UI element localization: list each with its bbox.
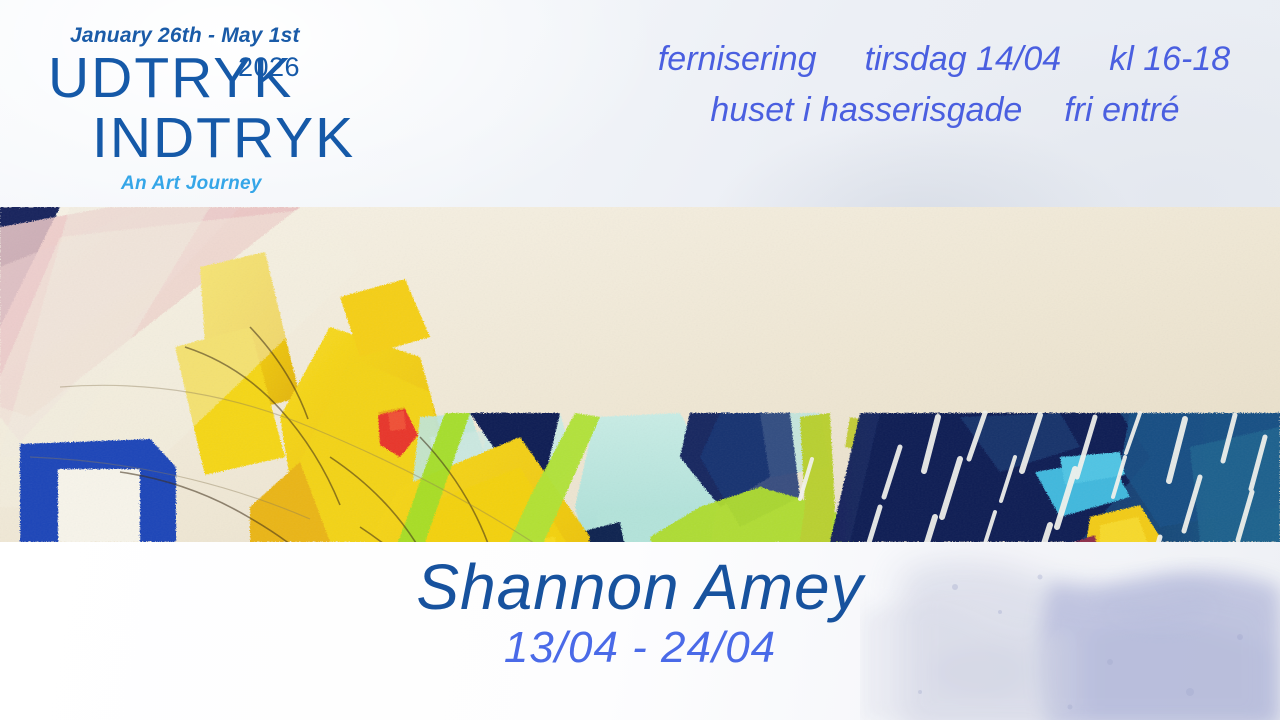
event-details-row-2: huset i hasserisgade fri entré [630,91,1260,130]
event-details: fernisering tirsdag 14/04 kl 16-18 huset… [600,40,1260,130]
header-band: January 26th - May 1st UDTRYK 2026 INDTR… [0,0,1280,207]
exhibition-branding: January 26th - May 1st UDTRYK 2026 INDTR… [0,0,360,207]
artist-exhibition-dates: 13/04 - 24/04 [0,625,1280,671]
artist-name: Shannon Amey [0,554,1280,621]
exhibition-tagline: An Art Journey [121,173,262,195]
exhibition-title-line2: INDTRYK [92,110,355,167]
event-type-label: fernisering [658,40,817,79]
artist-info: Shannon Amey 13/04 - 24/04 [0,542,1280,671]
artwork-image [0,207,1280,542]
artwork-svg [0,207,1280,542]
exhibition-title-line1: UDTRYK [48,50,293,107]
exhibition-year: 2026 [238,52,300,83]
exhibition-poster: January 26th - May 1st UDTRYK 2026 INDTR… [0,0,1280,720]
event-details-row-1: fernisering tirsdag 14/04 kl 16-18 [628,40,1260,79]
footer-band: Shannon Amey 13/04 - 24/04 [0,542,1280,720]
event-time-label: kl 16-18 [1109,40,1230,79]
event-entry-label: fri entré [1064,91,1179,130]
event-day-label: tirsdag 14/04 [865,40,1062,79]
exhibition-date-range: January 26th - May 1st [70,24,320,48]
event-venue-label: huset i hasserisgade [710,91,1022,130]
